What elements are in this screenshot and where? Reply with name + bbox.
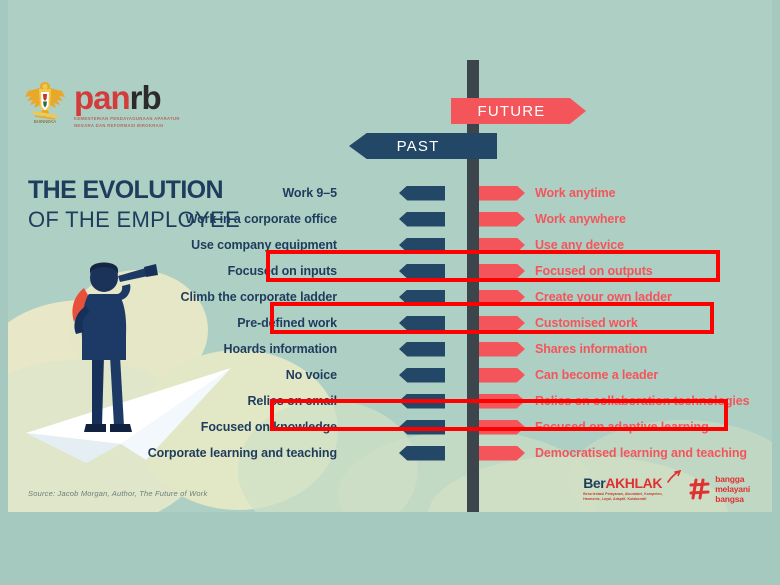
bangga-line-1: bangga: [715, 474, 750, 484]
future-label: Democratised learning and teaching: [535, 446, 747, 460]
future-sign: FUTURE: [451, 98, 586, 124]
comparison-row: No voiceCan become a leader: [8, 362, 772, 388]
future-label: Can become a leader: [535, 368, 658, 382]
bangga-melayani-bangsa-logo: bangga melayani bangsa: [689, 474, 750, 504]
future-arrow-icon: [479, 368, 525, 383]
past-arrow-icon: [399, 446, 445, 461]
future-label: Focused on outputs: [535, 264, 653, 278]
future-label: Customised work: [535, 316, 638, 330]
wordmark-pan: pan: [74, 79, 130, 116]
comparison-row: Focused on knowledgeFocused on adaptive …: [8, 414, 772, 440]
future-label: Work anywhere: [535, 212, 626, 226]
past-arrow-icon: [399, 290, 445, 305]
berakhlak-logo: BerAKHLAK Berorientasi Pelayanan, Akunta…: [583, 476, 675, 502]
past-arrow-icon: [399, 394, 445, 409]
comparison-row: Work 9–5Work anytime: [8, 180, 772, 206]
past-label: Focused on knowledge: [8, 420, 337, 434]
past-arrow-icon: [399, 264, 445, 279]
comparison-row: Use company equipmentUse any device: [8, 232, 772, 258]
berakhlak-tagline: Berorientasi Pelayanan, Akuntabel, Kompe…: [583, 492, 675, 502]
past-sign: PAST: [349, 133, 497, 159]
past-label: Climb the corporate ladder: [8, 290, 337, 304]
past-arrow-icon: [399, 212, 445, 227]
berakhlak-wordmark: BerAKHLAK: [583, 476, 675, 490]
future-arrow-icon: [479, 316, 525, 331]
source-credit: Source: Jacob Morgan, Author, The Future…: [28, 489, 207, 498]
future-label: Use any device: [535, 238, 624, 252]
past-arrow-icon: [399, 342, 445, 357]
comparison-rows: Work 9–5Work anytimeWork in a corporate …: [8, 180, 772, 466]
future-arrow-icon: [479, 238, 525, 253]
comparison-row: Focused on inputsFocused on outputs: [8, 258, 772, 284]
future-arrow-icon: [479, 264, 525, 279]
past-arrow-icon: [399, 316, 445, 331]
svg-text:BHINNEKA: BHINNEKA: [34, 119, 57, 124]
future-label: Relies on collaboration technologies: [535, 394, 750, 408]
future-arrow-icon: [479, 342, 525, 357]
past-label: Corporate learning and teaching: [8, 446, 337, 460]
footer-logos: BerAKHLAK Berorientasi Pelayanan, Akunta…: [583, 474, 750, 504]
past-label: Use company equipment: [8, 238, 337, 252]
bangga-line-2: melayani: [715, 484, 750, 494]
berakhlak-prefix: Ber: [583, 475, 605, 491]
future-label: Work anytime: [535, 186, 616, 200]
past-label: Relies on email: [8, 394, 337, 408]
panrb-logo: BHINNEKA panrb KEMENTERIAN PENDAYAGUNAAN…: [22, 78, 189, 130]
panrb-wordmark-text: panrb: [74, 82, 189, 113]
berakhlak-emphasis: AKHLAK: [605, 475, 662, 491]
comparison-row: Relies on emailRelies on collaboration t…: [8, 388, 772, 414]
future-arrow-icon: [479, 394, 525, 409]
comparison-row: Work in a corporate officeWork anywhere: [8, 206, 772, 232]
future-arrow-icon: [479, 186, 525, 201]
past-sign-label: PAST: [397, 138, 440, 155]
infographic-canvas: BHINNEKA panrb KEMENTERIAN PENDAYAGUNAAN…: [0, 0, 780, 585]
bangga-line-3: bangsa: [715, 494, 750, 504]
past-arrow-icon: [399, 368, 445, 383]
future-arrow-icon: [479, 212, 525, 227]
hash-mark-icon: [689, 478, 711, 500]
future-arrow-icon: [479, 446, 525, 461]
future-label: Create your own ladder: [535, 290, 672, 304]
panrb-wordmark: panrb KEMENTERIAN PENDAYAGUNAAN APARATUR…: [74, 78, 189, 129]
swoosh-icon: [667, 470, 681, 484]
past-label: Focused on inputs: [8, 264, 337, 278]
past-label: Pre-defined work: [8, 316, 337, 330]
past-label: No voice: [8, 368, 337, 382]
comparison-row: Climb the corporate ladderCreate your ow…: [8, 284, 772, 310]
comparison-row: Pre-defined workCustomised work: [8, 310, 772, 336]
wordmark-rb: rb: [130, 79, 161, 116]
past-arrow-icon: [399, 420, 445, 435]
past-arrow-icon: [399, 186, 445, 201]
future-label: Focused on adaptive learning: [535, 420, 709, 434]
future-sign-label: FUTURE: [477, 103, 545, 120]
bangga-wordmark: bangga melayani bangsa: [715, 474, 750, 504]
ministry-subtitle: KEMENTERIAN PENDAYAGUNAAN APARATUR NEGAR…: [74, 116, 189, 129]
garuda-emblem-icon: BHINNEKA: [22, 78, 68, 130]
future-arrow-icon: [479, 290, 525, 305]
comparison-row: Corporate learning and teachingDemocrati…: [8, 440, 772, 466]
infographic-card: BHINNEKA panrb KEMENTERIAN PENDAYAGUNAAN…: [8, 0, 772, 512]
past-label: Work 9–5: [8, 186, 337, 200]
future-label: Shares information: [535, 342, 647, 356]
comparison-row: Hoards informationShares information: [8, 336, 772, 362]
past-label: Hoards information: [8, 342, 337, 356]
past-arrow-icon: [399, 238, 445, 253]
future-arrow-icon: [479, 420, 525, 435]
past-label: Work in a corporate office: [8, 212, 337, 226]
